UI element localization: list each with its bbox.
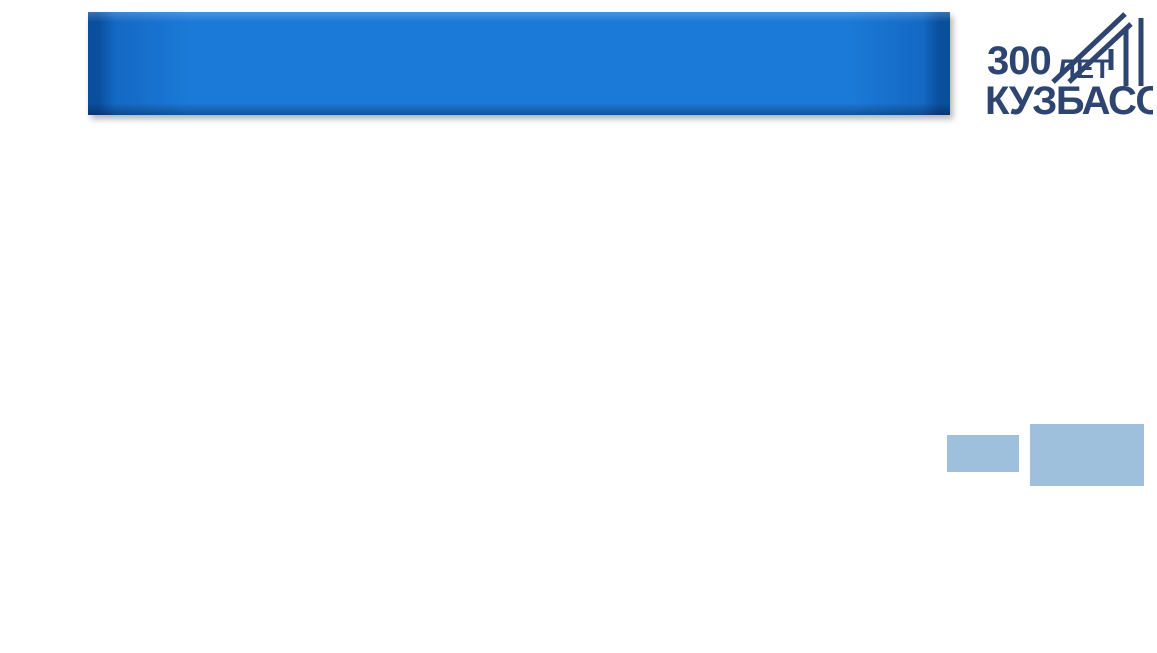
logo-number: 300 bbox=[987, 39, 1051, 83]
logo-region: КУЗБАСС bbox=[985, 79, 1153, 120]
kuzbass-300-years-logo: 300 ЛЕТ КУЗБАСС bbox=[985, 12, 1153, 120]
page-title bbox=[88, 12, 950, 19]
slide-title-banner bbox=[88, 12, 950, 115]
vpp-box bbox=[947, 435, 1019, 472]
total-time-box bbox=[1030, 424, 1144, 486]
